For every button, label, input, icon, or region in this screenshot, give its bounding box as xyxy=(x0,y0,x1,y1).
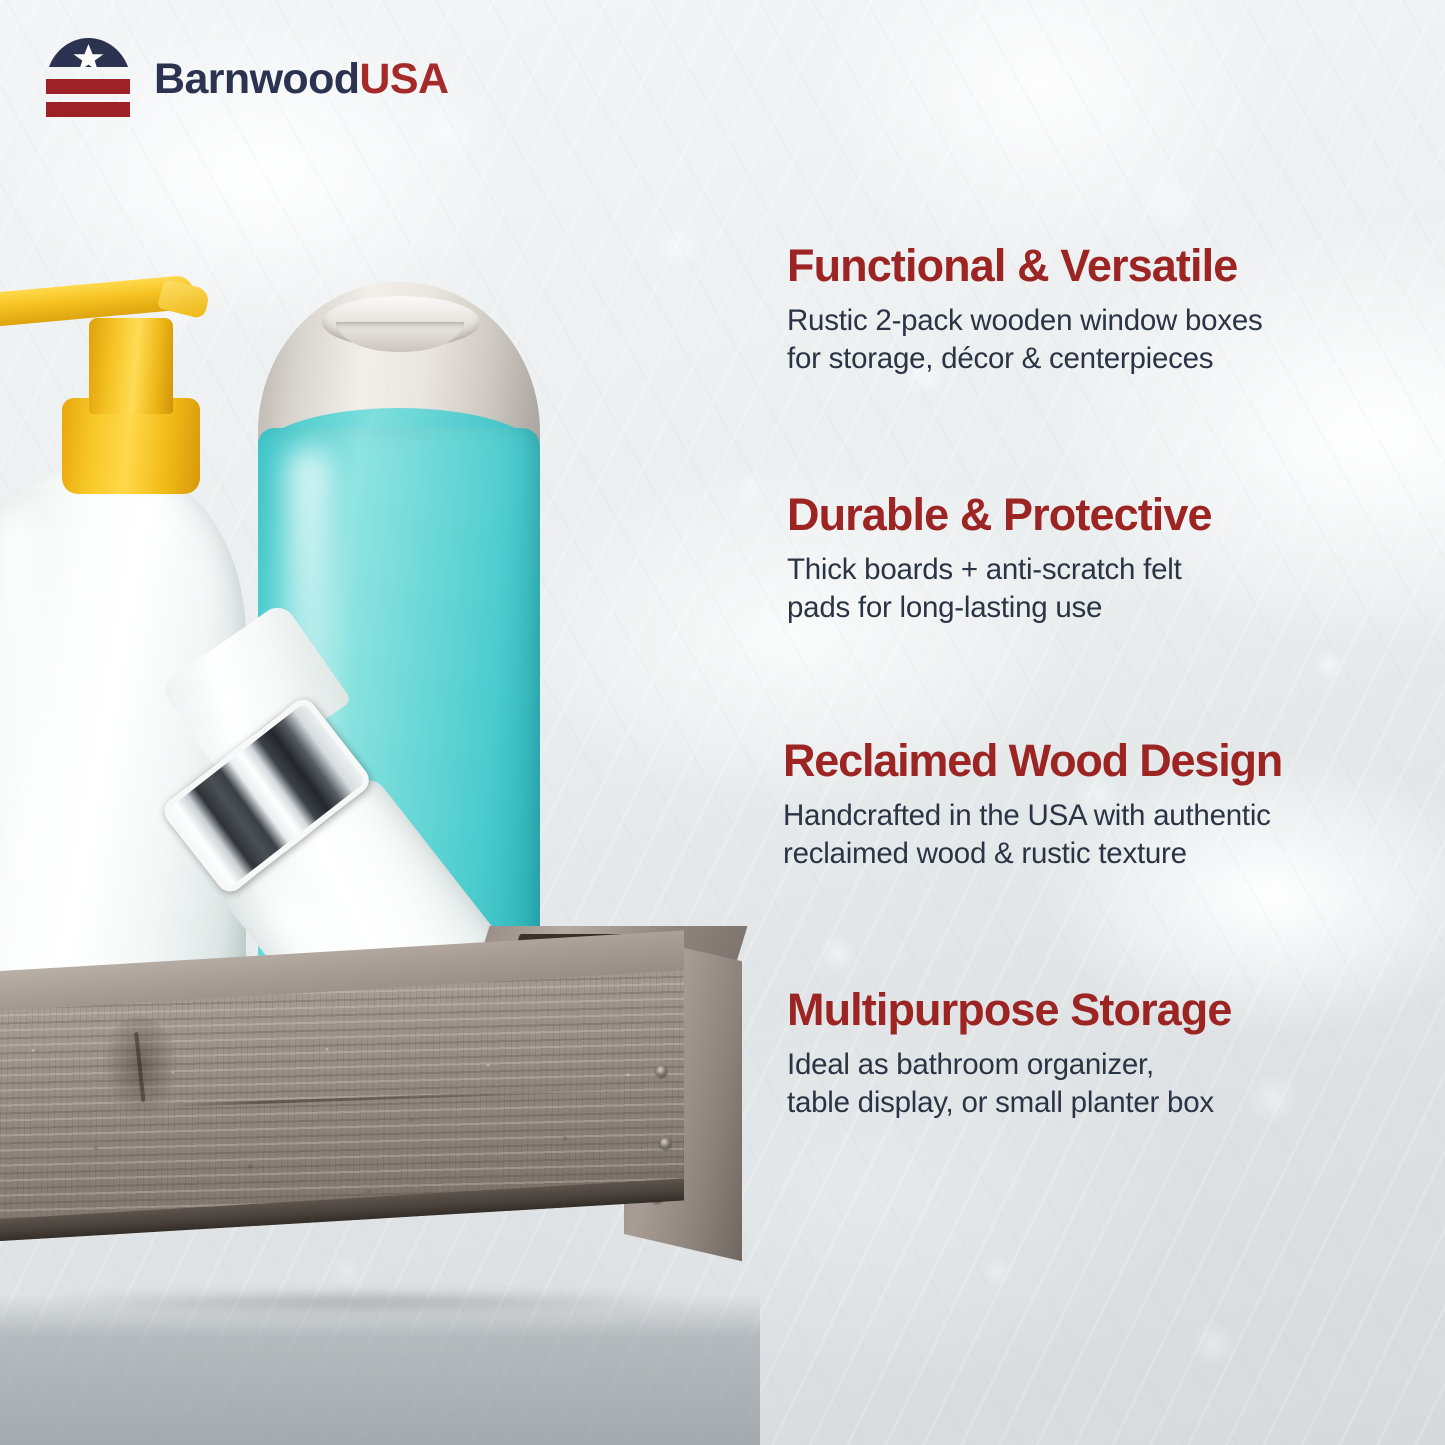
brand-name-primary: Barnwood xyxy=(154,55,359,103)
feature-description: Thick boards + anti-scratch felt pads fo… xyxy=(787,551,1212,628)
pump-dispenser-tip xyxy=(157,279,211,320)
feature-description: Ideal as bathroom organizer, table displ… xyxy=(787,1046,1232,1123)
feature-item-durable-protective: Durable & Protective Thick boards + anti… xyxy=(787,492,1212,627)
feature-title: Functional & Versatile xyxy=(787,243,1262,290)
feature-title: Multipurpose Storage xyxy=(787,987,1232,1034)
feature-description-line: for storage, décor & centerpieces xyxy=(787,342,1213,375)
box-nail-head xyxy=(660,1138,671,1149)
feature-description: Rustic 2-pack wooden window boxes for st… xyxy=(787,302,1262,379)
brand-logo: BarnwoodUSA xyxy=(41,36,448,122)
feature-title: Reclaimed Wood Design xyxy=(783,738,1282,785)
box-nail-head xyxy=(656,1066,667,1077)
brand-name-accent: USA xyxy=(359,55,448,103)
feature-description-line: Thick boards + anti-scratch felt xyxy=(787,553,1182,586)
feature-description-line: reclaimed wood & rustic texture xyxy=(783,837,1187,870)
reclaimed-wood-box xyxy=(0,920,744,1320)
feature-item-reclaimed-wood-design: Reclaimed Wood Design Handcrafted in the… xyxy=(783,738,1282,873)
product-feature-graphic: BarnwoodUSA Functional & Versatile Rusti… xyxy=(0,0,1445,1445)
feature-item-multipurpose-storage: Multipurpose Storage Ideal as bathroom o… xyxy=(787,987,1232,1122)
feature-description-line: Handcrafted in the USA with authentic xyxy=(783,799,1271,832)
feature-item-functional-versatile: Functional & Versatile Rustic 2-pack woo… xyxy=(787,243,1262,378)
feature-description-line: table display, or small planter box xyxy=(787,1086,1214,1119)
barn-roof-star-stripes-icon xyxy=(41,36,136,122)
feature-description-line: Ideal as bathroom organizer, xyxy=(787,1048,1154,1081)
feature-description-line: pads for long-lasting use xyxy=(787,591,1102,624)
feature-description-line: Rustic 2-pack wooden window boxes xyxy=(787,304,1262,337)
feature-title: Durable & Protective xyxy=(787,492,1212,539)
pump-neck xyxy=(89,318,173,414)
brand-wordmark: BarnwoodUSA xyxy=(154,58,448,101)
box-drop-shadow xyxy=(0,1296,730,1336)
feature-description: Handcrafted in the USA with authentic re… xyxy=(783,797,1282,874)
